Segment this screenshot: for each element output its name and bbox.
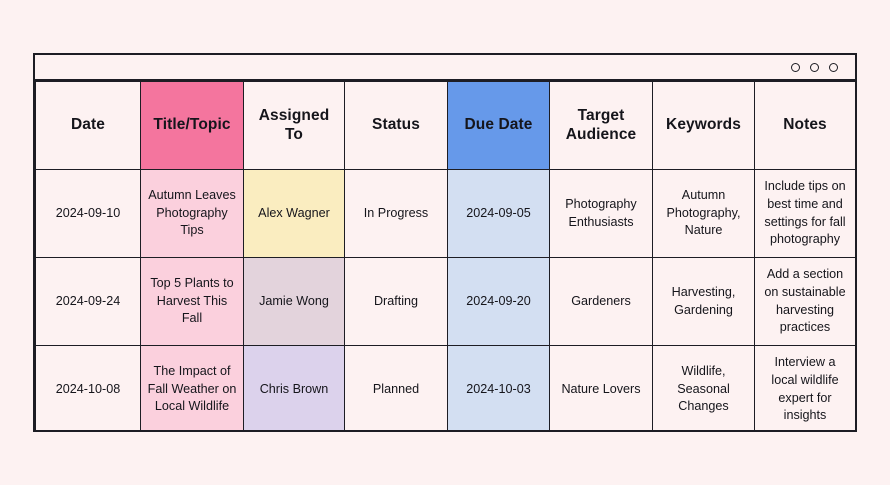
column-header-title-topic[interactable]: Title/Topic [141,82,244,170]
cell-date[interactable]: 2024-09-10 [36,170,141,258]
cell-assigned-to[interactable]: Alex Wagner [244,170,345,258]
column-header-target-audience[interactable]: Target Audience [550,82,653,170]
cell-notes[interactable]: Interview a local wildlife expert for in… [755,346,856,431]
cell-assigned-to[interactable]: Jamie Wong [244,258,345,346]
cell-status[interactable]: Planned [345,346,448,431]
column-header-date[interactable]: Date [36,82,141,170]
spreadsheet-window: Date Title/Topic Assigned To Status Due … [33,53,857,432]
cell-status[interactable]: Drafting [345,258,448,346]
cell-date[interactable]: 2024-09-24 [36,258,141,346]
cell-notes[interactable]: Include tips on best time and settings f… [755,170,856,258]
app-root: Date Title/Topic Assigned To Status Due … [0,0,890,485]
cell-due-date[interactable]: 2024-09-20 [448,258,550,346]
content-calendar-table: Date Title/Topic Assigned To Status Due … [35,81,855,430]
column-header-assigned-to[interactable]: Assigned To [244,82,345,170]
window-titlebar [35,55,855,81]
table-row: 2024-10-08 The Impact of Fall Weather on… [36,346,856,431]
window-maximize-dot-icon[interactable] [810,63,819,72]
cell-title-topic[interactable]: Autumn Leaves Photography Tips [141,170,244,258]
cell-keywords[interactable]: Wildlife, Seasonal Changes [653,346,755,431]
cell-title-topic[interactable]: Top 5 Plants to Harvest This Fall [141,258,244,346]
cell-assigned-to[interactable]: Chris Brown [244,346,345,431]
cell-notes[interactable]: Add a section on sustainable harvesting … [755,258,856,346]
column-header-status[interactable]: Status [345,82,448,170]
table-row: 2024-09-24 Top 5 Plants to Harvest This … [36,258,856,346]
table-body: 2024-09-10 Autumn Leaves Photography Tip… [36,170,856,431]
window-close-dot-icon[interactable] [829,63,838,72]
table-header: Date Title/Topic Assigned To Status Due … [36,82,856,170]
window-controls [791,63,838,72]
cell-keywords[interactable]: Autumn Photography, Nature [653,170,755,258]
column-header-notes[interactable]: Notes [755,82,856,170]
cell-due-date[interactable]: 2024-10-03 [448,346,550,431]
cell-target-audience[interactable]: Gardeners [550,258,653,346]
cell-target-audience[interactable]: Photography Enthusiasts [550,170,653,258]
table-container: Date Title/Topic Assigned To Status Due … [35,81,855,430]
column-header-keywords[interactable]: Keywords [653,82,755,170]
cell-status[interactable]: In Progress [345,170,448,258]
cell-target-audience[interactable]: Nature Lovers [550,346,653,431]
cell-due-date[interactable]: 2024-09-05 [448,170,550,258]
table-row: 2024-09-10 Autumn Leaves Photography Tip… [36,170,856,258]
column-header-due-date[interactable]: Due Date [448,82,550,170]
window-minimize-dot-icon[interactable] [791,63,800,72]
cell-keywords[interactable]: Harvesting, Gardening [653,258,755,346]
table-header-row: Date Title/Topic Assigned To Status Due … [36,82,856,170]
cell-title-topic[interactable]: The Impact of Fall Weather on Local Wild… [141,346,244,431]
cell-date[interactable]: 2024-10-08 [36,346,141,431]
